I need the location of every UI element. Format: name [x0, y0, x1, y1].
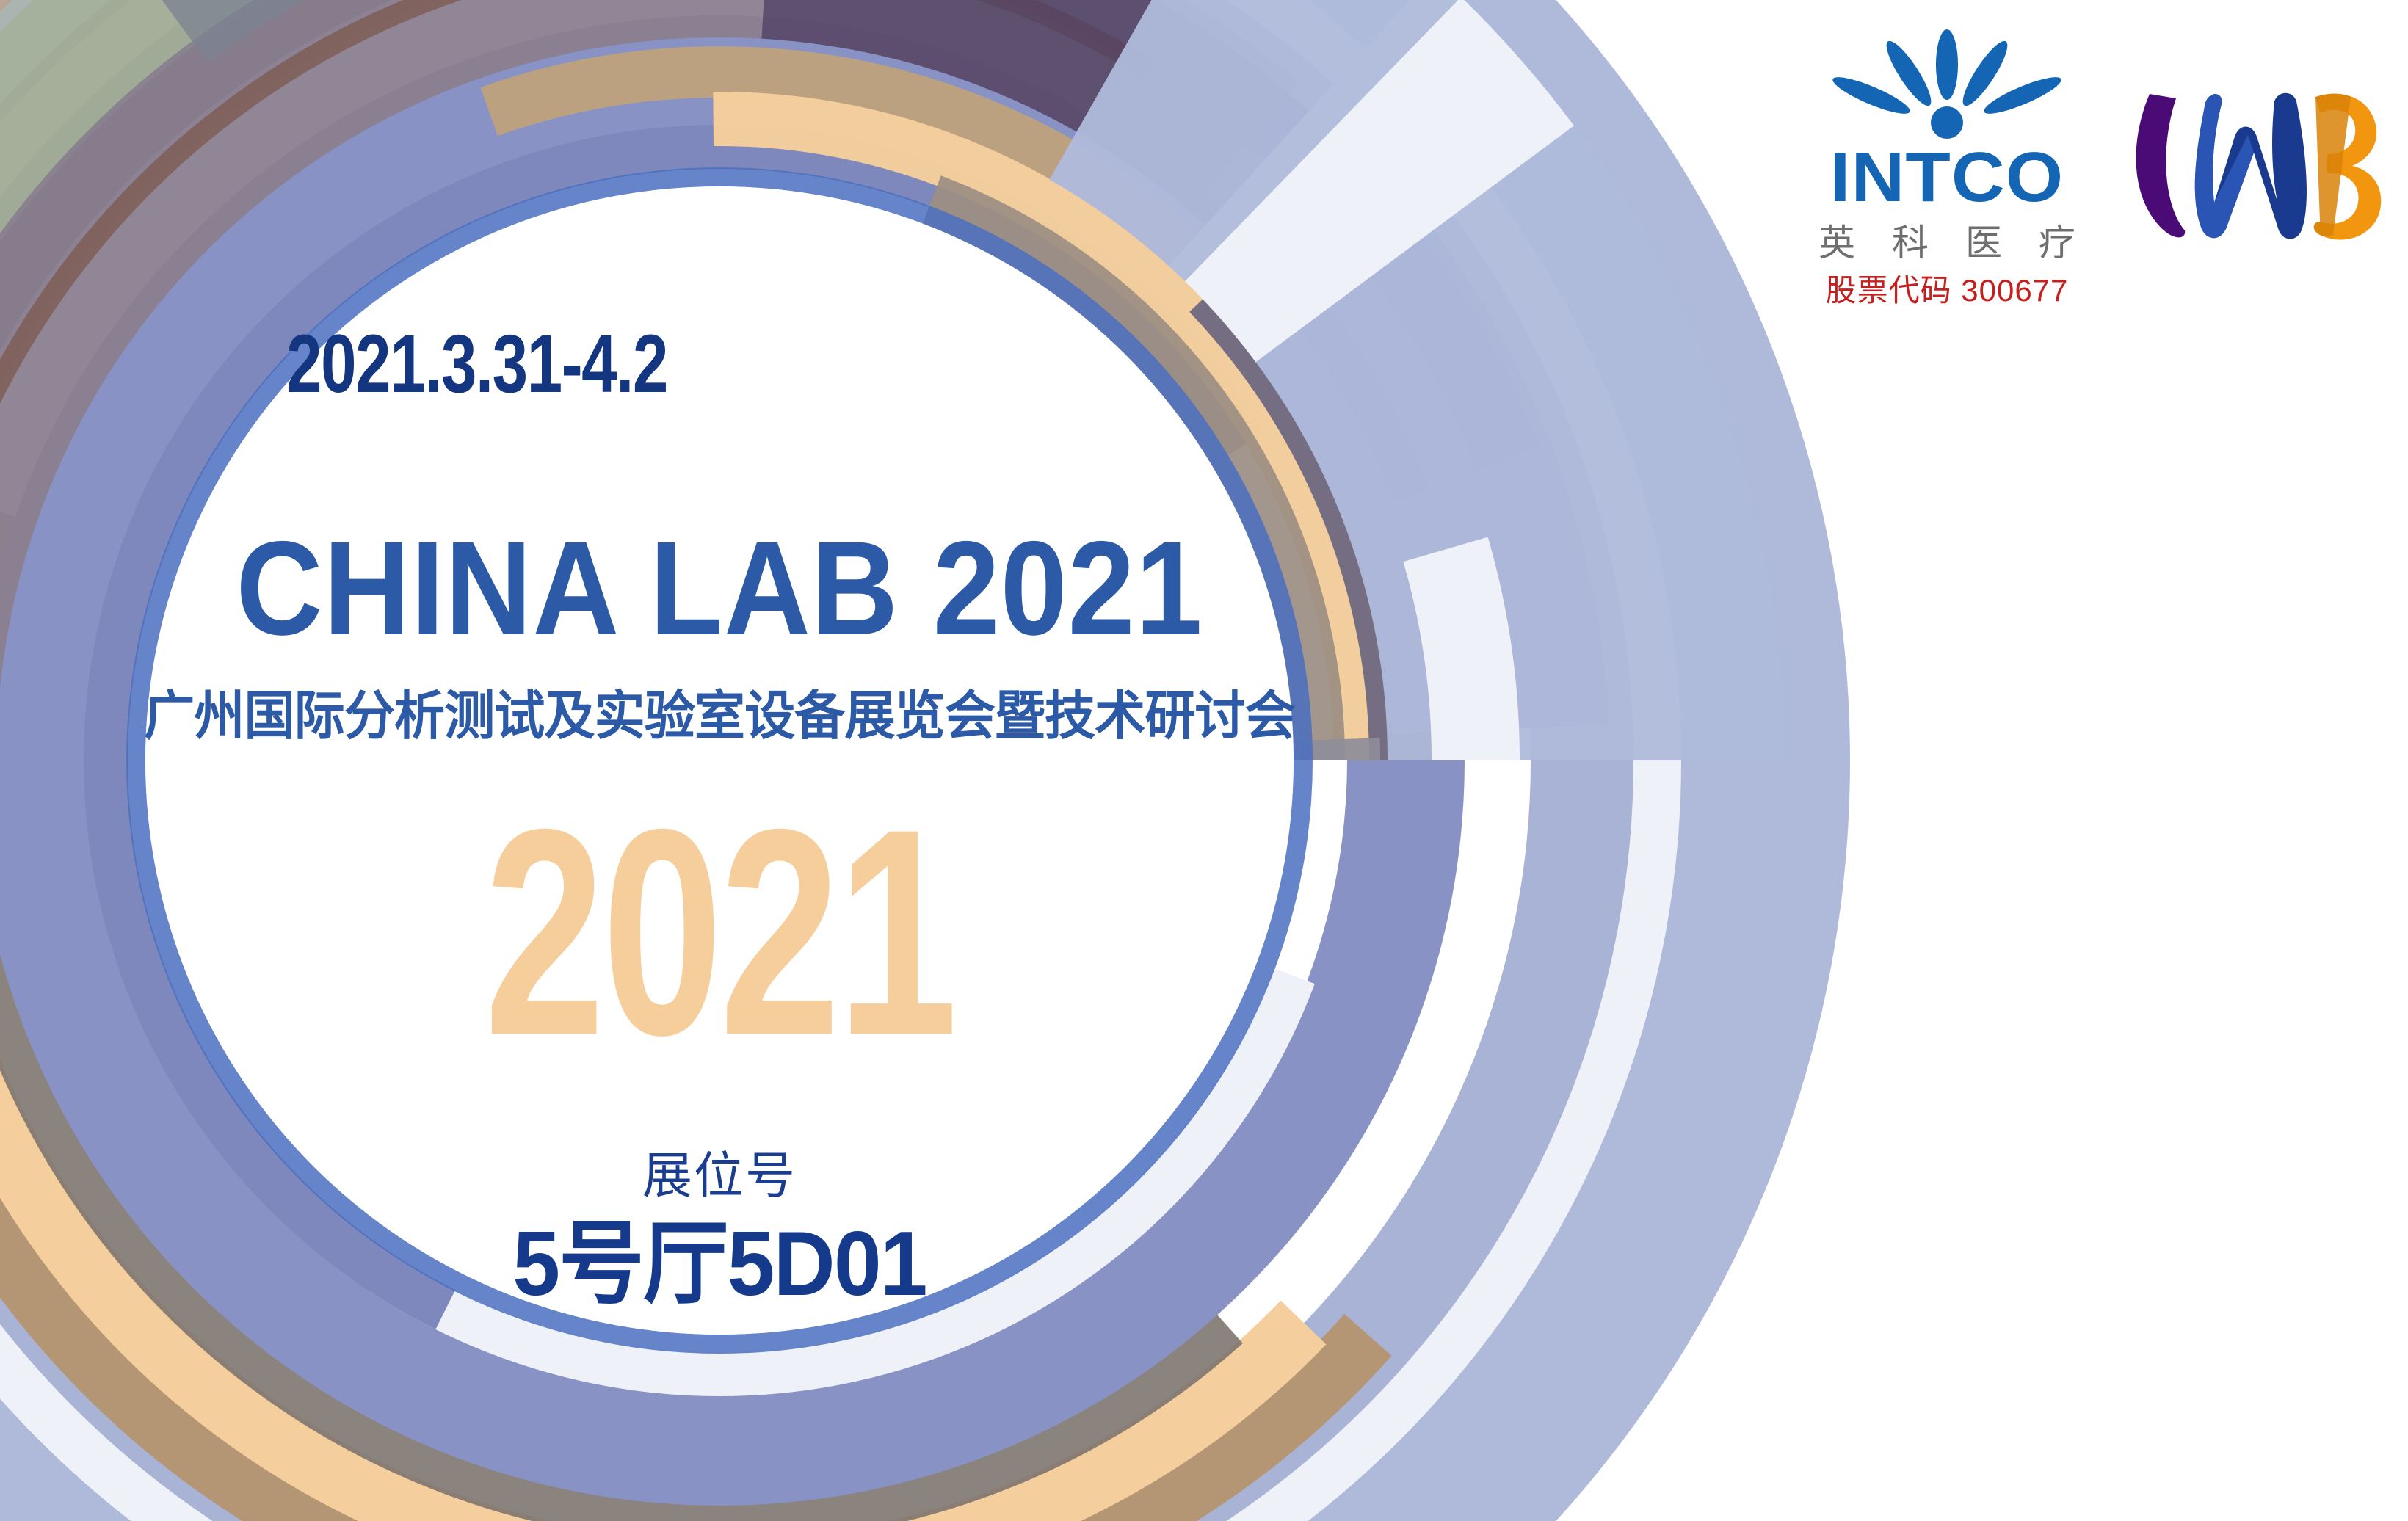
intco-stock-code: 股票代码 300677: [1826, 272, 2069, 309]
poster-center-content: 2021.3.31-4.2 CHINA LAB 2021 广州国际分析测试及实验…: [110, 242, 1329, 1387]
booth-number: 5号厅5D01: [147, 1219, 1292, 1310]
intco-chinese-name: 英 科 医 疗: [1805, 220, 2089, 266]
unb-monogram-icon: [2123, 65, 2395, 248]
year-watermark: 2021: [269, 785, 1170, 1079]
booth-label: 展位号: [110, 1151, 1329, 1201]
unb-logo: [2123, 65, 2395, 248]
page-title: CHINA LAB 2021: [197, 521, 1241, 655]
intco-logo: INTCO 英 科 医 疗 股票代码 300677: [1800, 29, 2094, 309]
intco-burst-icon: [1826, 29, 2068, 139]
logo-cluster: INTCO 英 科 医 疗 股票代码 300677: [1800, 29, 2395, 309]
intco-wordmark: INTCO: [1830, 142, 2064, 213]
event-dates: 2021.3.31-4.2: [286, 323, 667, 405]
poster-canvas: 2021.3.31-4.2 CHINA LAB 2021 广州国际分析测试及实验…: [0, 0, 2408, 1521]
event-subtitle: 广州国际分析测试及实验室设备展览会暨技术研讨会: [134, 690, 1305, 743]
